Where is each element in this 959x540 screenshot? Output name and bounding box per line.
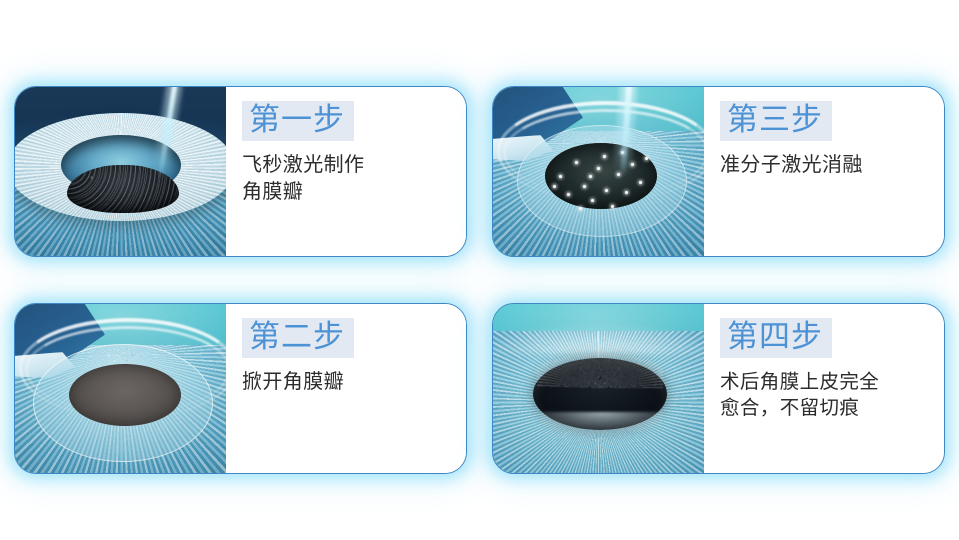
exposed-stromal-bed	[69, 364, 181, 426]
step-2-text-panel: 第二步 掀开角膜瓣	[226, 304, 466, 473]
step-2-photo	[15, 304, 226, 473]
step-3-title: 第三步	[720, 101, 832, 141]
corneal-specular-highlight	[493, 310, 704, 354]
step-card-3[interactable]: 第三步 准分子激光消融	[492, 86, 945, 257]
step-card-2[interactable]: 第二步 掀开角膜瓣	[14, 303, 467, 474]
step-4-title: 第四步	[720, 318, 832, 358]
step-1-title: 第一步	[242, 101, 354, 141]
step-3-description: 准分子激光消融	[720, 152, 944, 179]
steps-grid: 第一步 飞秒激光制作 角膜瓣	[0, 0, 959, 540]
step-3-text-panel: 第三步 准分子激光消融	[704, 87, 944, 256]
step-2-title: 第二步	[242, 318, 354, 358]
step-4-photo	[493, 304, 704, 473]
step-card-1[interactable]: 第一步 飞秒激光制作 角膜瓣	[14, 86, 467, 257]
step-4-description: 术后角膜上皮完全 愈合，不留切痕	[720, 369, 944, 421]
step-card-4[interactable]: 第四步 术后角膜上皮完全 愈合，不留切痕	[492, 303, 945, 474]
step-1-text-panel: 第一步 飞秒激光制作 角膜瓣	[226, 87, 466, 256]
step-3-photo	[493, 87, 704, 256]
lower-limbal-crescent	[541, 412, 663, 438]
step-1-photo	[15, 87, 226, 256]
ablation-sparkles	[493, 87, 704, 256]
step-2-description: 掀开角膜瓣	[242, 369, 466, 396]
step-4-text-panel: 第四步 术后角膜上皮完全 愈合，不留切痕	[704, 304, 944, 473]
step-1-description: 飞秒激光制作 角膜瓣	[242, 152, 466, 206]
collarette-fibers	[537, 354, 663, 388]
